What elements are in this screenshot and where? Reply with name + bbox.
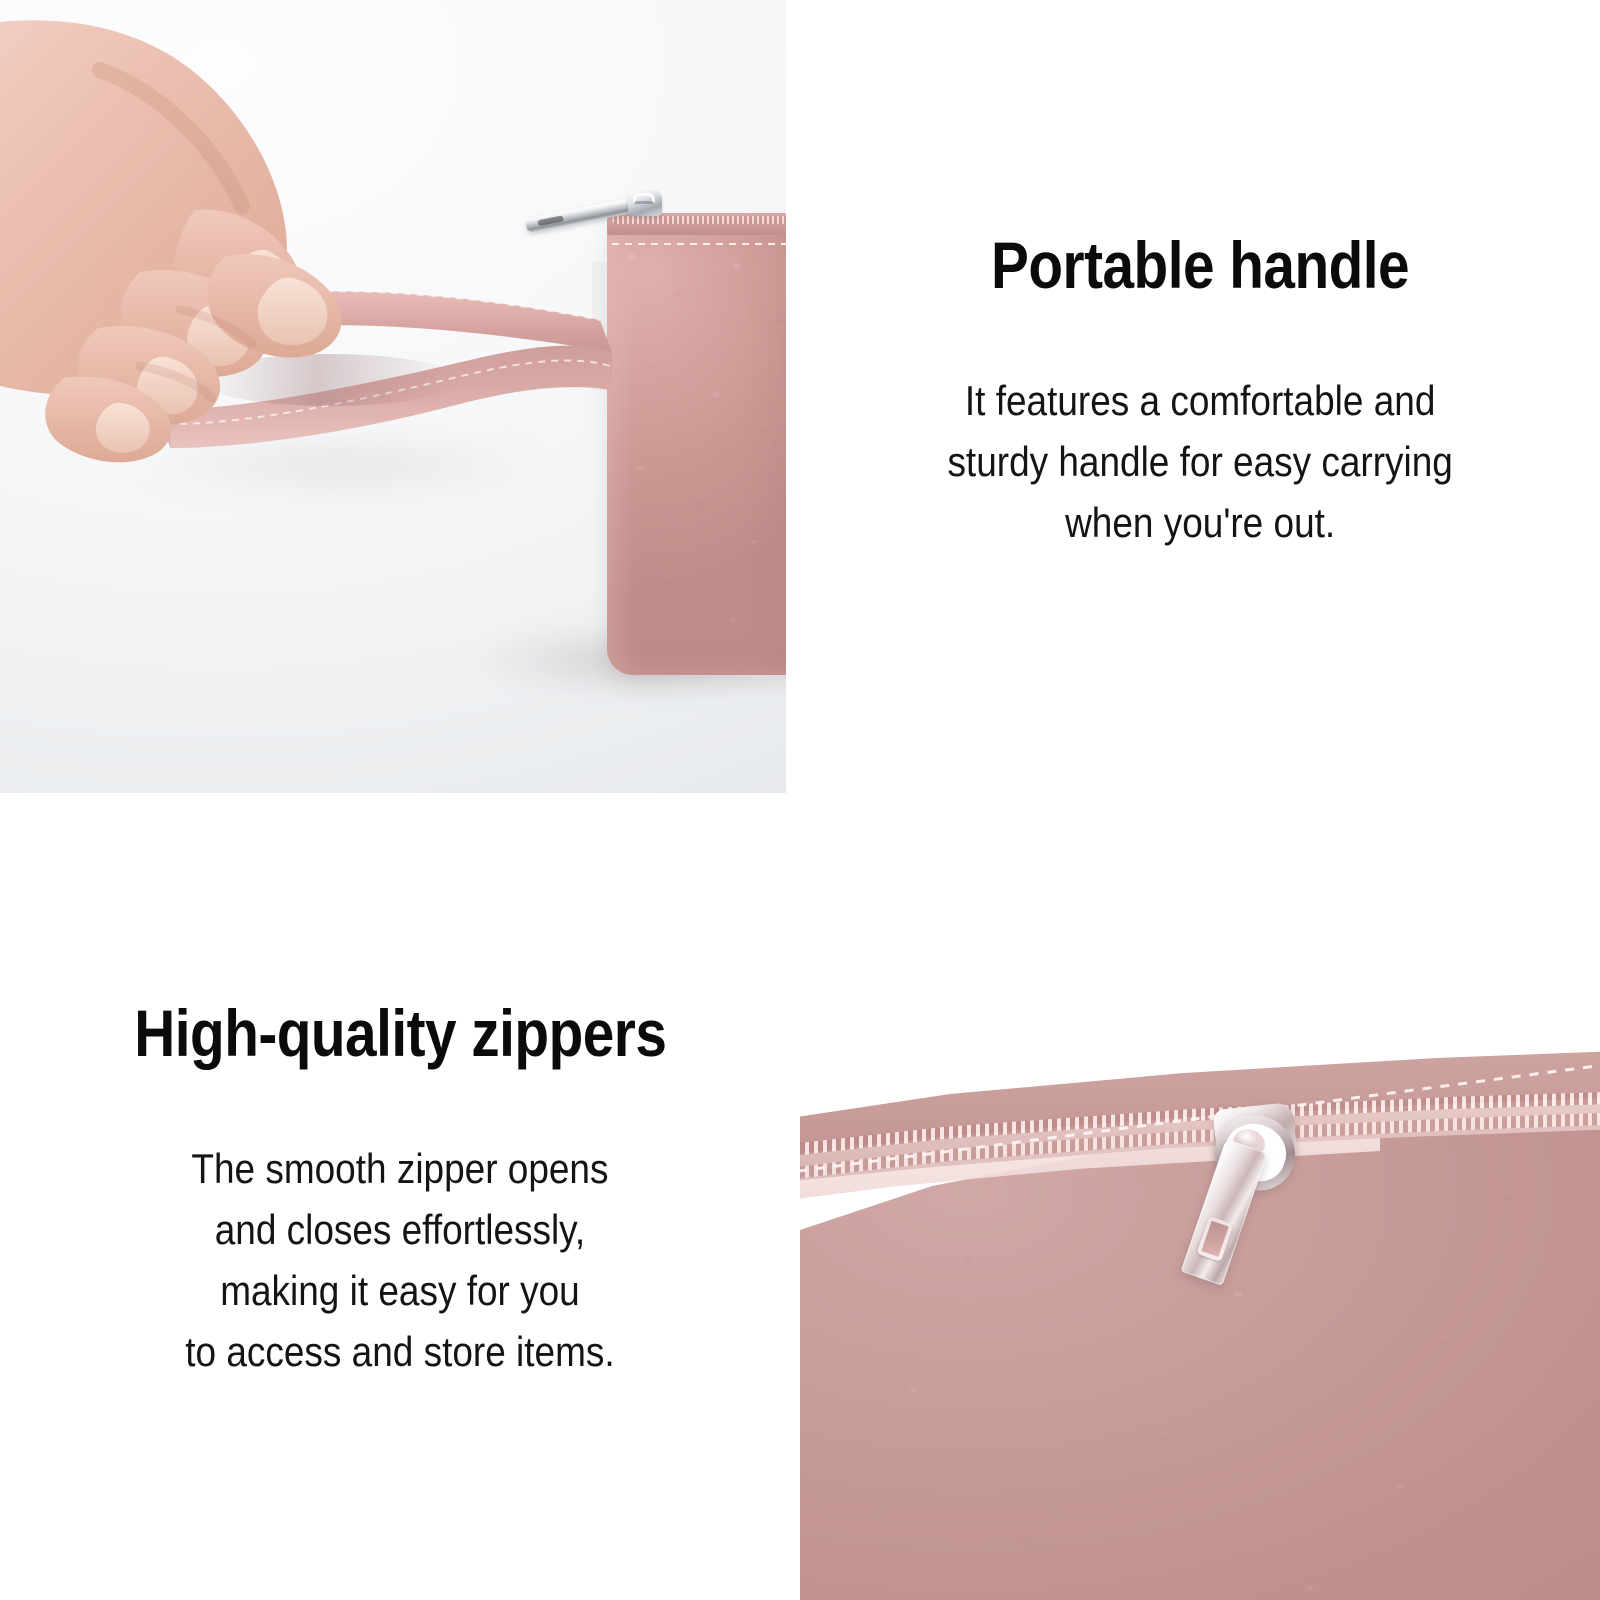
feature-body-high-quality-zippers: The smooth zipper opens and closes effor… xyxy=(185,1138,614,1382)
body-line: The smooth zipper opens xyxy=(185,1138,614,1199)
product-feature-infographic: Portable handle It features a comfortabl… xyxy=(0,0,1600,1600)
body-line: when you're out. xyxy=(947,492,1452,553)
feature-block-high-quality-zippers: High-quality zippers The smooth zipper o… xyxy=(0,1000,800,1440)
feature-block-portable-handle: Portable handle It features a comfortabl… xyxy=(800,232,1600,652)
body-line: and closes effortlessly, xyxy=(185,1199,614,1260)
feature-heading-high-quality-zippers: High-quality zippers xyxy=(134,1000,666,1066)
body-line: sturdy handle for easy carrying xyxy=(947,431,1452,492)
body-line: making it easy for you xyxy=(185,1260,614,1321)
hand xyxy=(0,10,440,480)
feature-body-portable-handle: It features a comfortable and sturdy han… xyxy=(947,370,1452,553)
feature-heading-portable-handle: Portable handle xyxy=(991,232,1409,298)
photo-hand-holding-pouch xyxy=(0,0,786,793)
body-line: It features a comfortable and xyxy=(947,370,1452,431)
body-line: to access and store items. xyxy=(185,1321,614,1382)
photo-zipper-closeup xyxy=(800,1022,1600,1600)
